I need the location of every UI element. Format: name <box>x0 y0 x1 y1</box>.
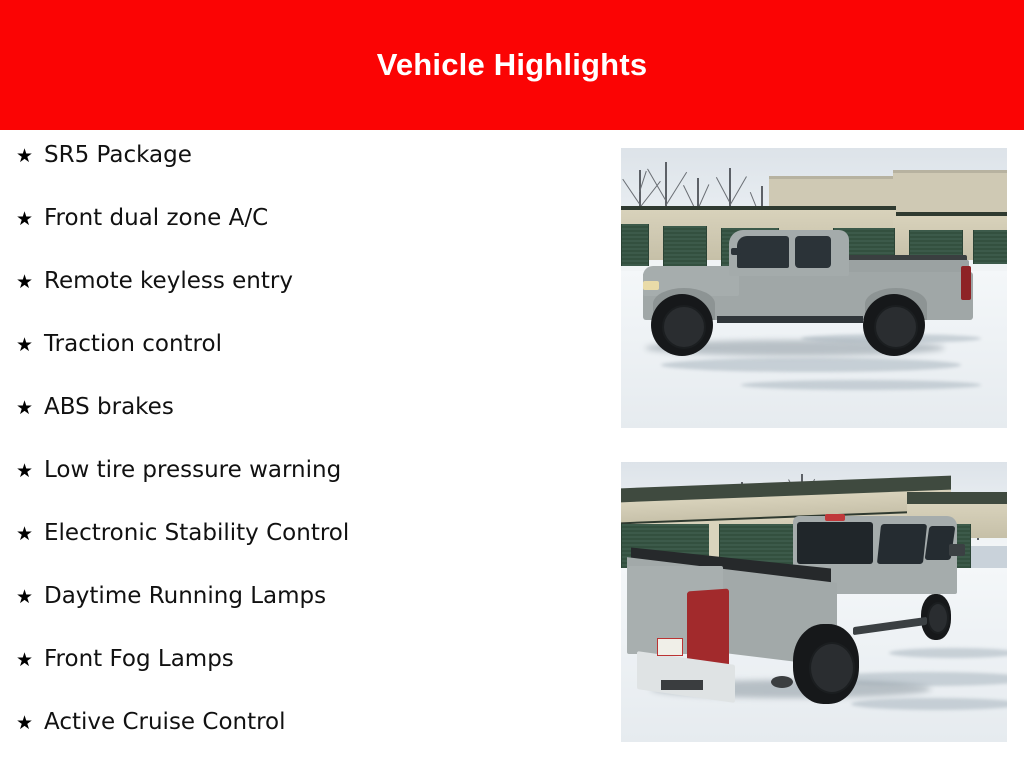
list-item-label: Active Cruise Control <box>44 711 286 734</box>
list-item-label: Traction control <box>44 333 222 356</box>
snow-track <box>661 358 961 372</box>
star-icon: ★ <box>16 336 44 355</box>
content-area: ★ SR5 Package ★ Front dual zone A/C ★ Re… <box>0 130 1024 768</box>
garage-door <box>973 230 1007 264</box>
list-item: ★ Front dual zone A/C <box>0 207 600 270</box>
snow-track <box>851 698 1007 710</box>
truck-rim-front <box>662 305 706 349</box>
truck-mirror <box>731 248 741 255</box>
star-icon: ★ <box>16 525 44 544</box>
license-plate <box>657 638 683 656</box>
trailer-hitch <box>661 680 703 690</box>
star-icon: ★ <box>16 147 44 166</box>
list-item-label: Remote keyless entry <box>44 270 293 293</box>
star-icon: ★ <box>16 714 44 733</box>
truck-rim-rear <box>874 305 918 349</box>
snow-track <box>741 380 981 390</box>
truck-taillight <box>687 589 729 670</box>
garage-door <box>663 226 707 266</box>
truck-window-rear <box>795 236 831 268</box>
snow-track <box>889 648 1007 658</box>
list-item-label: ABS brakes <box>44 396 174 419</box>
list-item-label: Front dual zone A/C <box>44 207 268 230</box>
page-title: Vehicle Highlights <box>377 49 648 80</box>
photo-scene-side <box>621 148 1007 428</box>
truck-headlight <box>643 281 659 290</box>
list-item-label: Daytime Running Lamps <box>44 585 326 608</box>
page-header-banner: Vehicle Highlights <box>0 0 1024 130</box>
vehicle-photo-side <box>621 148 1007 428</box>
list-item: ★ Daytime Running Lamps <box>0 585 600 648</box>
list-item: ★ ABS brakes <box>0 396 600 459</box>
star-icon: ★ <box>16 462 44 481</box>
list-item: ★ Traction control <box>0 333 600 396</box>
vehicle-photo-rear-quarter <box>621 462 1007 742</box>
truck-rim-rear <box>809 642 855 694</box>
photo-scene-rear <box>621 462 1007 742</box>
star-icon: ★ <box>16 210 44 229</box>
truck-mirror <box>949 544 965 556</box>
list-item: ★ Active Cruise Control <box>0 711 600 774</box>
star-icon: ★ <box>16 273 44 292</box>
exhaust-tip <box>771 676 793 688</box>
vehicle-highlights-list: ★ SR5 Package ★ Front dual zone A/C ★ Re… <box>0 130 600 774</box>
list-item: ★ SR5 Package <box>0 144 600 207</box>
truck-rim-front <box>927 602 949 634</box>
truck-third-brake-light <box>825 514 845 521</box>
garage-door <box>621 224 649 266</box>
list-item-label: SR5 Package <box>44 144 192 167</box>
truck-taillight <box>961 266 971 300</box>
truck-window-front <box>737 236 789 268</box>
list-item-label: Low tire pressure warning <box>44 459 341 482</box>
list-item: ★ Front Fog Lamps <box>0 648 600 711</box>
list-item: ★ Remote keyless entry <box>0 270 600 333</box>
truck-rear-window <box>797 522 873 564</box>
list-item: ★ Low tire pressure warning <box>0 459 600 522</box>
truck-side-window <box>877 524 927 564</box>
list-item: ★ Electronic Stability Control <box>0 522 600 585</box>
star-icon: ★ <box>16 651 44 670</box>
truck-running-board <box>717 316 863 323</box>
list-item-label: Front Fog Lamps <box>44 648 234 671</box>
list-item-label: Electronic Stability Control <box>44 522 349 545</box>
star-icon: ★ <box>16 399 44 418</box>
star-icon: ★ <box>16 588 44 607</box>
